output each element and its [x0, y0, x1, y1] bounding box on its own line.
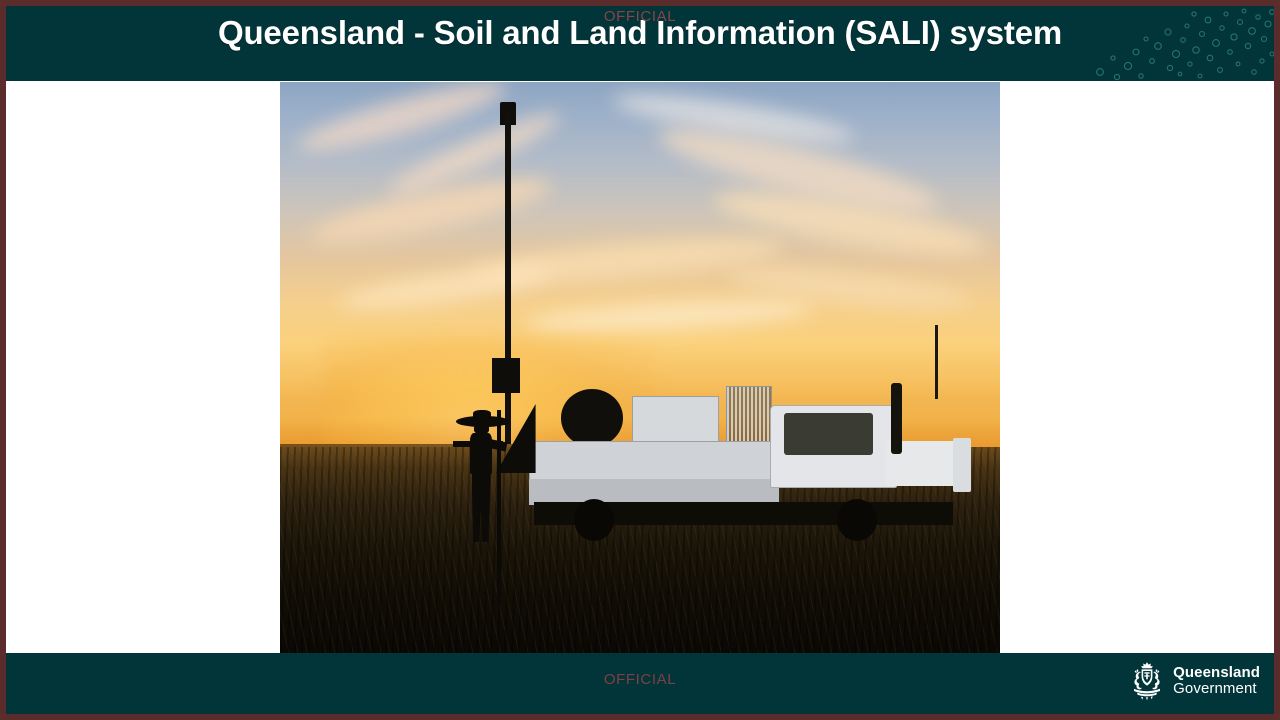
drill-rig-mast [505, 111, 511, 445]
queensland-government-wordmark: Queensland Government [1173, 665, 1260, 697]
field-scientist-silhouette [464, 416, 500, 543]
legs [472, 471, 491, 542]
classification-marking-bottom: OFFICIAL [6, 671, 1274, 688]
classification-marking-top: OFFICIAL [6, 8, 1274, 25]
tray-headboard [726, 386, 773, 446]
field-soil-sampling-photo [280, 82, 1000, 657]
logo-line-government: Government [1173, 681, 1260, 697]
ute-tray [529, 441, 781, 485]
utility-vehicle-silhouette [525, 393, 971, 554]
ute-snorkel [891, 383, 902, 454]
spare-tyre [561, 389, 623, 447]
queensland-government-logo: Queensland Government [1129, 661, 1260, 701]
uhf-antenna [935, 325, 938, 399]
front-wheel [837, 499, 877, 541]
rear-wheel [574, 499, 614, 541]
slide-footer: OFFICIAL [6, 653, 1274, 714]
presentation-slide: OFFICIAL Queensland - Soil and Land Info… [0, 0, 1280, 720]
cirrus-cloud [337, 258, 555, 317]
ute-cab-window [784, 413, 873, 455]
drill-mast-base [492, 358, 521, 393]
ute-bullbar [953, 438, 971, 493]
slide-body [6, 81, 1274, 653]
logo-line-queensland: Queensland [1173, 665, 1260, 681]
tray-toolbox [632, 396, 719, 446]
cirrus-cloud [524, 295, 813, 336]
slide-header: OFFICIAL Queensland - Soil and Land Info… [6, 6, 1274, 81]
queensland-coat-of-arms-icon [1129, 661, 1165, 701]
